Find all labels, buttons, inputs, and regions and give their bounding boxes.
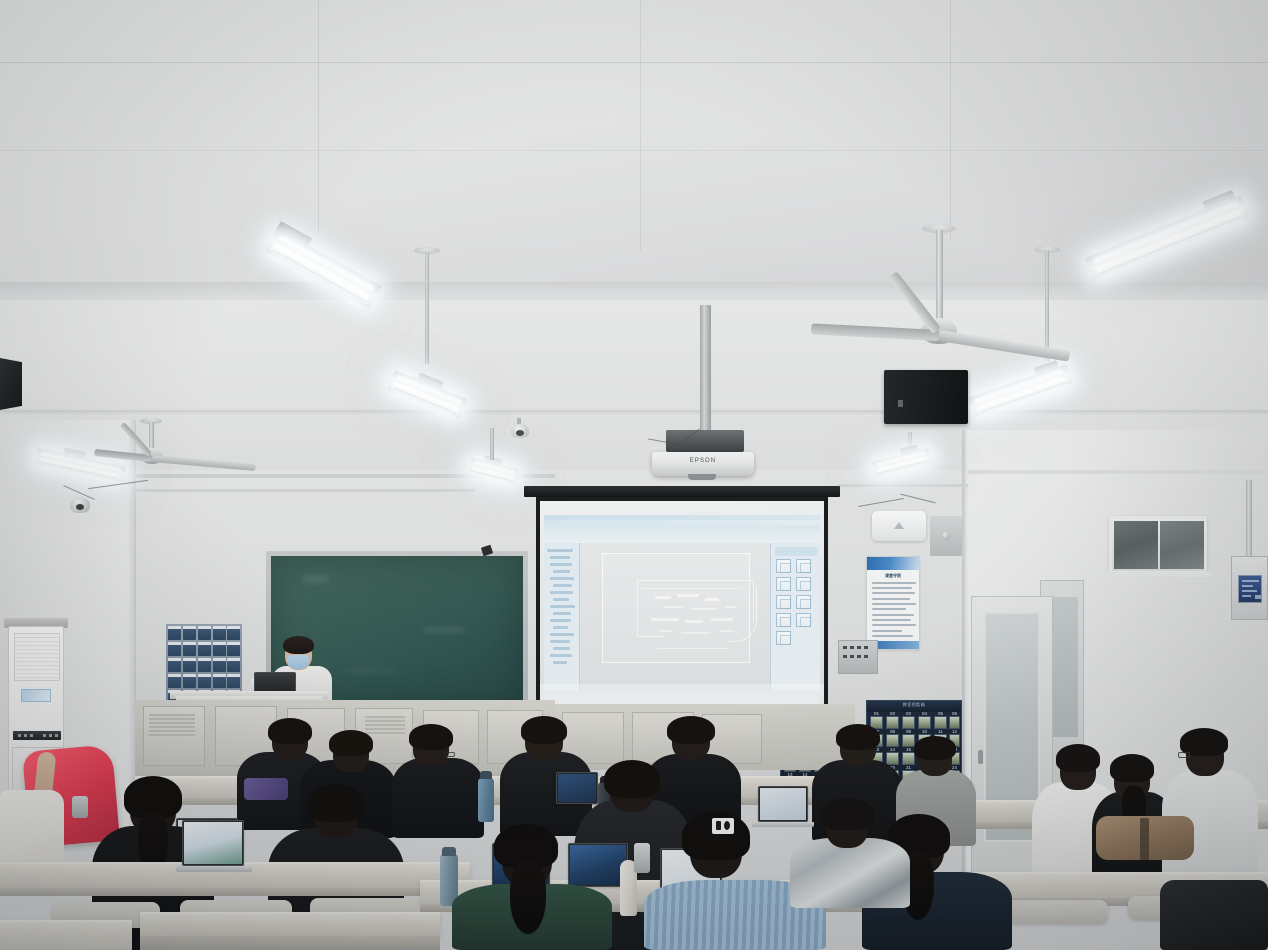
- ac-control-panel[interactable]: [13, 731, 61, 740]
- cad-application-window[interactable]: [544, 515, 820, 711]
- bottle-cap: [480, 771, 492, 779]
- cad-thumbnail-palette[interactable]: [770, 543, 820, 691]
- cad-technical-drawing: [633, 576, 761, 658]
- cad-options-bar[interactable]: [544, 536, 820, 543]
- projector-lens-icon: [688, 474, 716, 480]
- desk-row-frontmost-edge: [140, 936, 440, 950]
- wall-moulding: [838, 484, 968, 487]
- desk-row-c-edge: [0, 888, 470, 896]
- utility-box-knob-icon[interactable]: [942, 532, 950, 540]
- electrical-display: [1238, 575, 1262, 603]
- projector-mount-pole: [700, 305, 711, 433]
- camera-lens-icon: [516, 430, 524, 436]
- backpack-strap: [1140, 818, 1149, 860]
- ac-label-sticker: [21, 689, 51, 702]
- ceiling-seam: [0, 150, 1268, 151]
- cad-drawing-sheet: [602, 553, 750, 663]
- projector-bracket: [666, 430, 744, 452]
- desk-row-frontmost-left: [0, 920, 132, 950]
- light-rod: [1045, 250, 1049, 362]
- ceiling-fan-right-rod: [936, 230, 943, 322]
- ceiling-fan-left-rod: [149, 422, 154, 450]
- hair-clip-detail: [724, 821, 730, 830]
- chair-back: [1004, 900, 1108, 924]
- glasses-icon: [1178, 752, 1190, 758]
- wall-control-panel[interactable]: [838, 640, 878, 674]
- phone-on-desk[interactable]: [634, 843, 650, 873]
- hand-phone: [72, 796, 88, 818]
- wall-utility-box: [930, 516, 962, 556]
- transom-window[interactable]: [1109, 516, 1207, 574]
- instructor-hair: [283, 636, 314, 654]
- hoodie-graphic-purple: [244, 778, 288, 800]
- wall-moulding: [0, 410, 1268, 416]
- dome-camera-left: [70, 497, 90, 513]
- window-pane-right: [1160, 521, 1204, 569]
- ceiling-seam: [950, 0, 951, 240]
- bottle-cap: [442, 847, 456, 856]
- tote-white: [0, 790, 64, 868]
- light-rod: [490, 428, 494, 460]
- wall-speaker-black-left: [0, 358, 22, 410]
- ac-grille: [14, 633, 60, 681]
- hair-clip-detail: [716, 821, 721, 830]
- projector: [652, 452, 754, 476]
- ceiling-seam: [318, 0, 319, 232]
- cad-icon-ribbon[interactable]: [544, 525, 820, 536]
- classroom-photo: EPSON: [0, 0, 1268, 950]
- camera-lens-icon: [76, 504, 84, 510]
- instructor-face-mask: [287, 655, 309, 669]
- bottle-blue-tall: [478, 778, 494, 822]
- cad-drawing-canvas[interactable]: [580, 543, 770, 691]
- wall-moulding: [968, 470, 1268, 474]
- notice-poster: 课堂守则: [866, 556, 920, 650]
- palette-header: [775, 547, 817, 556]
- poster-title: 课堂守则: [867, 573, 919, 579]
- window-pane-left: [1114, 521, 1158, 569]
- wall-speaker-white: [872, 511, 926, 541]
- electrical-conduit: [1246, 480, 1252, 558]
- ceiling-seam: [0, 62, 1268, 63]
- glasses-icon: [444, 752, 455, 757]
- poster-header-band: [867, 557, 919, 570]
- cad-model-tree-panel[interactable]: [544, 543, 580, 691]
- window-sill: [1105, 572, 1211, 577]
- projection-screen-housing: [524, 486, 840, 497]
- wall-moulding: [135, 489, 475, 492]
- backpack-black: [1160, 880, 1268, 950]
- dome-camera-center: [511, 424, 529, 438]
- electrical-control-box[interactable]: [1231, 556, 1268, 620]
- ceiling-seam: [640, 0, 641, 250]
- projection-screen-surface[interactable]: [540, 501, 824, 721]
- desk-row-frontmost: [140, 912, 440, 936]
- speaker-led: [898, 400, 903, 407]
- ceiling-speaker-black-right: [884, 370, 968, 424]
- speaker-logo-icon: [894, 522, 904, 529]
- projector-brand-label: EPSON: [652, 458, 754, 464]
- door-handle[interactable]: [978, 750, 983, 764]
